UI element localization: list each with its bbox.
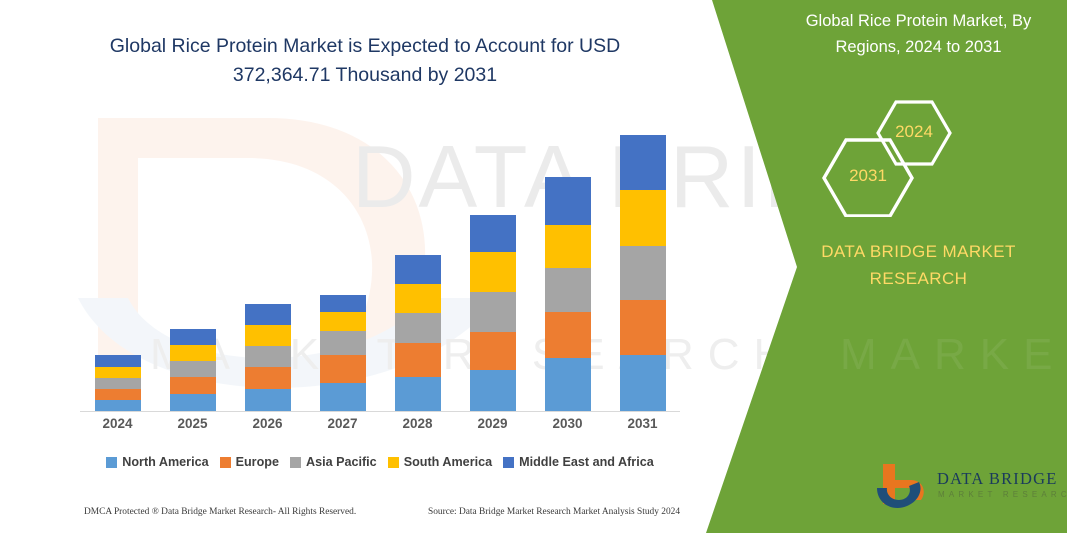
legend-swatch-icon [106,457,117,468]
bar-segment [170,329,216,345]
legend-item[interactable]: Asia Pacific [290,455,377,469]
x-axis-label: 2031 [605,416,680,431]
legend-item[interactable]: South America [388,455,492,469]
bar-segment [170,361,216,377]
bar-column [230,120,305,411]
bar-segment [170,345,216,361]
stacked-bar [545,177,591,411]
x-axis-label: 2025 [155,416,230,431]
page-title: Global Rice Protein Market is Expected t… [70,32,660,90]
legend-swatch-icon [503,457,514,468]
bar-segment [545,312,591,358]
brand-name: DATA BRIDGE MARKET RESEARCH [786,238,1051,292]
bar-segment [470,370,516,411]
bar-column [455,120,530,411]
stacked-bar [170,329,216,411]
bar-segment [245,367,291,389]
hex-label-2031: 2031 [824,166,912,186]
bar-segment [545,177,591,225]
brand-line-2: RESEARCH [786,265,1051,292]
legend-item[interactable]: Europe [220,455,279,469]
legend-label: Europe [236,455,279,469]
data-bridge-logo: DATA BRIDGE MARKET RESEARCH [875,462,1065,518]
brand-panel: MARKET RESEARCH Global Rice Protein Mark… [690,0,1067,533]
logo-title: DATA BRIDGE [937,469,1058,489]
stacked-bar [620,135,666,411]
legend-label: Middle East and Africa [519,455,654,469]
bar-segment [470,215,516,252]
hexagon-outline-icon [818,92,1028,217]
bar-segment [320,383,366,411]
bar-segment [320,295,366,312]
bar-segment [95,389,141,400]
brand-line-1: DATA BRIDGE MARKET [786,238,1051,265]
bar-segment [245,325,291,346]
stacked-bar [245,304,291,411]
stacked-bar [395,255,441,411]
bar-segment [470,252,516,292]
panel-watermark-text: MARKET RESEARCH [840,330,1067,380]
bar-segment [545,268,591,312]
legend-swatch-icon [388,457,399,468]
stacked-bar-chart: 20242025202620272028202920302031 [80,120,680,420]
stacked-bar [320,295,366,411]
legend-label: Asia Pacific [306,455,377,469]
bar-segment [620,246,666,300]
legend-swatch-icon [290,457,301,468]
legend-label: North America [122,455,208,469]
bar-segment [320,312,366,331]
bar-segment [395,255,441,284]
bar-segment [170,377,216,394]
hex-label-2024: 2024 [878,122,950,142]
bar-segment [620,135,666,190]
x-axis-label: 2029 [455,416,530,431]
bar-column [80,120,155,411]
bar-column [305,120,380,411]
bar-segment [95,378,141,389]
stacked-bar [470,215,516,411]
x-axis-label: 2026 [230,416,305,431]
bar-segment [170,394,216,411]
bar-segment [545,225,591,268]
bar-column [605,120,680,411]
bar-segment [395,284,441,313]
legend-label: South America [404,455,492,469]
stacked-bar [95,355,141,411]
panel-title: Global Rice Protein Market, By Regions, … [776,8,1061,60]
bar-segment [245,304,291,325]
chart-legend: North AmericaEuropeAsia PacificSouth Ame… [80,455,680,469]
data-bridge-mark-icon [875,462,933,512]
bar-segment [320,331,366,355]
bar-column [155,120,230,411]
bar-segment [395,377,441,411]
chart-plot-area [80,120,680,411]
infographic-root: DATA BRIDGE MARKET RESEARCH Global Rice … [0,0,1067,533]
x-axis-label: 2028 [380,416,455,431]
bar-segment [545,358,591,411]
footer-source: Source: Data Bridge Market Research Mark… [428,507,680,517]
bar-segment [95,367,141,378]
chart-axis-line [80,411,680,412]
legend-item[interactable]: North America [106,455,208,469]
bar-segment [620,300,666,355]
legend-swatch-icon [220,457,231,468]
logo-subtitle: MARKET RESEARCH [938,490,1067,499]
hexagon-badges: 2024 2031 [818,92,1028,217]
bar-segment [395,343,441,377]
x-axis-label: 2024 [80,416,155,431]
bar-column [530,120,605,411]
chart-x-axis-labels: 20242025202620272028202920302031 [80,416,680,431]
bar-segment [620,355,666,411]
bar-segment [620,190,666,246]
bar-segment [470,292,516,332]
x-axis-label: 2027 [305,416,380,431]
legend-item[interactable]: Middle East and Africa [503,455,654,469]
x-axis-label: 2030 [530,416,605,431]
bar-segment [320,355,366,383]
bar-segment [245,346,291,367]
bar-segment [470,332,516,370]
footer-copyright: DMCA Protected ® Data Bridge Market Rese… [84,507,356,517]
bar-segment [95,355,141,367]
bar-segment [245,389,291,411]
bar-segment [95,400,141,411]
bar-segment [395,313,441,343]
bar-column [380,120,455,411]
